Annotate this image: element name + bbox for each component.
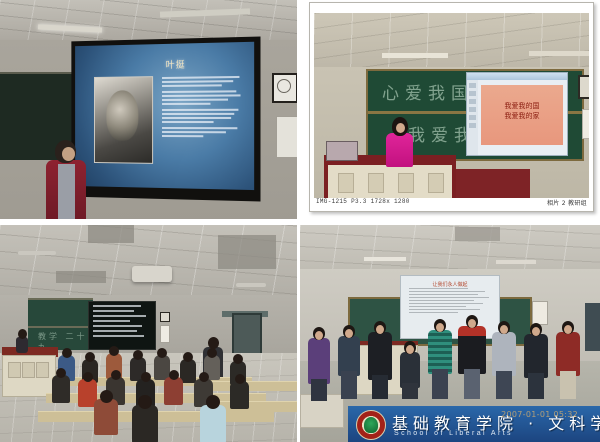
ceiling-light <box>364 257 406 261</box>
student-legs <box>311 379 327 401</box>
wall-notice <box>276 116 297 158</box>
seated-student <box>230 381 249 409</box>
classroom-door <box>232 313 262 357</box>
watermark-english-text: School of Liberal Arts <box>394 430 513 437</box>
student-face <box>406 345 414 354</box>
student-face <box>315 331 323 340</box>
projected-application-window: 我爱我的国 我爱我的家 <box>466 72 568 156</box>
window-toolbar <box>467 80 478 155</box>
photo-bottom-left-content: 教学 二十九 <box>0 225 297 442</box>
student-face <box>436 323 444 332</box>
student-legs <box>341 371 357 399</box>
photo-top-right-content: 心爱我国 我爱我家 ——演讲稿 我爱我的国 我爱我的家 <box>314 13 589 198</box>
photo-top-left: 叶挺 <box>0 0 297 219</box>
student-figure <box>524 323 548 399</box>
student-figure <box>492 321 516 399</box>
photo-caption-strip: IMG-1215 P3.3 1728x 1280 相片 2 教研组 <box>314 198 589 208</box>
slide-portrait-image <box>94 76 153 164</box>
student-face <box>564 325 572 334</box>
wall-notice <box>160 325 170 343</box>
student-black-red-jacket <box>458 326 486 374</box>
podium-cabinet <box>2 355 56 397</box>
student-face <box>500 325 508 334</box>
photo-collage: 叶挺 <box>0 0 600 442</box>
laptop <box>326 141 358 161</box>
seated-student <box>200 405 226 442</box>
student-legs <box>496 371 512 399</box>
student-legs <box>432 369 448 399</box>
wall-picture <box>578 75 589 99</box>
slide-title: 叶挺 <box>166 58 186 71</box>
photo-timestamp: 2007-01-01 05:32 <box>501 410 578 419</box>
presenter-figure <box>46 140 88 219</box>
desk-row <box>202 381 297 391</box>
student-face <box>345 329 353 338</box>
chalkboard-line-1: 心爱我国 <box>382 79 474 104</box>
teacher-figure <box>16 329 28 351</box>
photo-bottom-right-content: 让我们永人做起 <box>300 225 600 442</box>
presenter-shirt <box>58 164 75 219</box>
ceiling-vent <box>455 227 500 241</box>
watermark-banner: 基础教育学院 · 文科学部 School of Liberal Arts 200… <box>348 406 600 442</box>
student-coat <box>368 332 392 380</box>
student-figure <box>556 321 580 399</box>
student-figure <box>400 341 420 399</box>
student-legs <box>372 375 388 399</box>
student-figure <box>308 327 330 399</box>
window-titlebar <box>467 73 567 80</box>
slide-text: 我爱我的国 我爱我的家 <box>481 101 563 121</box>
ceiling-tile-grid <box>314 13 589 69</box>
caption-right-text: 相片 2 教研组 <box>547 198 587 207</box>
ceiling-light-secondary <box>529 51 589 56</box>
student-coat <box>308 338 330 384</box>
student-legs <box>402 383 418 399</box>
slide-text-line-1: 我爱我的国 <box>505 102 540 110</box>
wall-notice <box>582 109 589 139</box>
student-face <box>468 319 476 328</box>
blackboard: 教学 二十九 <box>28 298 93 350</box>
photo-top-right: 心爱我国 我爱我家 ——演讲稿 我爱我的国 我爱我的家 <box>305 0 600 219</box>
student-legs <box>464 369 480 399</box>
student-figure <box>428 319 452 399</box>
photo-frame: 心爱我国 我爱我家 ——演讲稿 我爱我的国 我爱我的家 <box>309 2 594 212</box>
student-face <box>532 327 540 336</box>
wall-clock <box>272 73 297 103</box>
ceiling-projector <box>132 266 172 282</box>
presenter-face <box>396 123 405 133</box>
projection-screen <box>88 301 156 350</box>
seated-student <box>132 405 158 442</box>
student-grey-hoodie <box>492 332 516 376</box>
standing-student-head <box>208 337 219 349</box>
ceiling-fan-2 <box>236 283 266 287</box>
student-figure <box>338 325 360 399</box>
ceiling-light-secondary <box>496 260 536 264</box>
seated-student <box>52 375 70 403</box>
student-figure <box>458 315 486 399</box>
slide-bullet-list <box>162 76 243 140</box>
photo-top-left-content: 叶挺 <box>0 0 297 219</box>
caption-left-text: IMG-1215 P3.3 1728x 1280 <box>316 198 410 205</box>
student-dark-jacket <box>524 334 548 378</box>
student-striped-sweater <box>428 330 452 374</box>
ceiling-vent-1 <box>88 225 134 243</box>
seated-student <box>164 377 183 405</box>
wall-picture <box>160 312 170 322</box>
ceiling-vent-2 <box>218 235 276 269</box>
student-group-row <box>300 317 600 399</box>
ceiling-vent-3 <box>56 271 106 283</box>
photo-bottom-right: 让我们永人做起 <box>300 225 600 442</box>
photo-bottom-left: 教学 二十九 <box>0 225 297 442</box>
screen-title: 让我们永人做起 <box>401 281 499 288</box>
seated-student <box>94 399 118 435</box>
student-red-jacket <box>556 332 580 376</box>
presenter-figure <box>386 117 414 165</box>
presenter-pink-jacket <box>386 133 413 167</box>
student-face <box>376 325 384 334</box>
projection-screen: 叶挺 <box>75 42 254 190</box>
ceiling-fan-1 <box>18 251 56 255</box>
podium-body <box>328 165 452 198</box>
projection-screen-frame: 叶挺 <box>71 36 260 201</box>
teacher-body <box>16 337 28 353</box>
teacher-head <box>18 329 27 339</box>
student-figure <box>368 321 392 399</box>
ceiling-light <box>382 53 448 58</box>
student-seating-area <box>52 377 297 442</box>
ceiling-tile-grid <box>300 225 600 275</box>
student-legs <box>560 371 576 399</box>
school-logo-icon <box>356 410 386 440</box>
slide-text-line-2: 我爱我的家 <box>505 112 540 120</box>
student-jacket <box>338 336 360 376</box>
projected-slide: 我爱我的国 我爱我的家 <box>481 85 563 145</box>
presenter-face <box>62 147 75 161</box>
student-legs <box>528 373 544 399</box>
